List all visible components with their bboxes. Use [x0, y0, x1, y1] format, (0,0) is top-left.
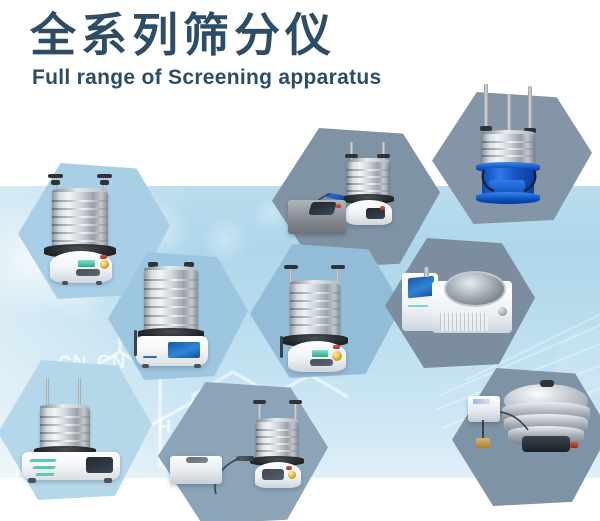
machine-foot	[104, 478, 112, 483]
banner-title-block: 全系列筛分仪 Full range of Screening apparatus	[30, 8, 381, 90]
clamp-rod	[507, 94, 511, 134]
clamp-nut	[100, 180, 109, 185]
clamp-nut	[51, 180, 60, 185]
clamp-cap	[331, 265, 345, 269]
vacuum-chamber-lid[interactable]	[444, 271, 506, 307]
control-knob[interactable]	[332, 351, 342, 361]
power-button[interactable]	[333, 345, 340, 349]
clamp-cap	[97, 174, 112, 178]
clamp-cap	[253, 400, 266, 404]
drive-motor	[522, 436, 570, 452]
accent-stripe	[32, 466, 56, 469]
product-freeze-dryer[interactable]	[400, 255, 518, 347]
led-display	[312, 350, 328, 357]
control-knob[interactable]	[288, 471, 296, 479]
power-cable	[134, 330, 137, 356]
control-panel[interactable]	[262, 469, 284, 480]
valve-knob[interactable]	[498, 307, 507, 316]
product-sieve-shaker-with-controller-top[interactable]	[290, 138, 410, 248]
controller-button[interactable]	[336, 204, 341, 208]
product-banner: CN CN H H CN 全系列筛分仪 Full range of Screen…	[0, 0, 600, 521]
terminal-box	[570, 442, 578, 448]
brand-stripe	[408, 305, 428, 307]
power-cable	[280, 336, 283, 358]
page-subtitle-en: Full range of Screening apparatus	[32, 66, 381, 90]
vacuum-port	[424, 267, 429, 277]
product-sieve-shaker-analog-left[interactable]	[40, 168, 140, 288]
product-ultrasonic-round-sieve[interactable]	[470, 378, 596, 476]
product-sieve-shaker-with-controller-bottom[interactable]	[170, 392, 310, 502]
power-button[interactable]	[100, 255, 107, 259]
sieve-stack	[347, 162, 389, 198]
machine-foot	[142, 364, 149, 368]
sieve-stack	[290, 284, 340, 338]
sieve-stack	[144, 270, 198, 332]
power-button[interactable]	[286, 466, 292, 470]
product-industrial-sieve-shaker-blue[interactable]	[462, 84, 572, 214]
machine-foot	[28, 478, 36, 483]
controller-display[interactable]	[186, 457, 208, 463]
page-title-cn: 全系列筛分仪	[30, 8, 381, 62]
machine-foot	[96, 281, 102, 285]
machine-foot	[194, 364, 201, 368]
cabinet-label	[473, 399, 490, 404]
sieve-stack	[52, 192, 108, 250]
feed-port	[540, 380, 554, 387]
control-knob	[100, 260, 109, 269]
brand-stripe	[143, 356, 157, 358]
led-display	[78, 260, 95, 267]
touchscreen-display[interactable]	[86, 457, 113, 473]
machine-foot	[62, 281, 68, 285]
drive-straps	[478, 168, 540, 194]
sieve-stack	[40, 408, 90, 450]
power-button[interactable]	[380, 206, 385, 210]
controller-display[interactable]	[308, 202, 337, 215]
product-sieve-shaker-teal[interactable]	[20, 378, 132, 490]
clamp-cap	[289, 400, 302, 404]
lcd-touchscreen[interactable]	[168, 342, 200, 358]
ventilation-grille	[440, 313, 488, 331]
clamp-cap	[48, 174, 63, 178]
accent-stripe	[29, 459, 57, 462]
product-sieve-shaker-lcd-blue[interactable]	[126, 258, 226, 376]
sieve-stack	[256, 422, 298, 460]
clamp-rod	[528, 86, 532, 134]
clamp-rod	[484, 84, 488, 132]
clamp-rod	[46, 378, 49, 408]
ground-block	[476, 438, 490, 448]
control-panel[interactable]	[76, 269, 100, 276]
ground-cable	[482, 420, 484, 440]
control-panel[interactable]	[310, 359, 333, 366]
product-sieve-shaker-knob-center[interactable]	[276, 258, 376, 378]
accent-stripe	[35, 473, 55, 476]
ultrasonic-cable	[484, 408, 534, 438]
clamp-cap	[284, 265, 298, 269]
freeze-dryer-lcd[interactable]	[408, 276, 434, 299]
